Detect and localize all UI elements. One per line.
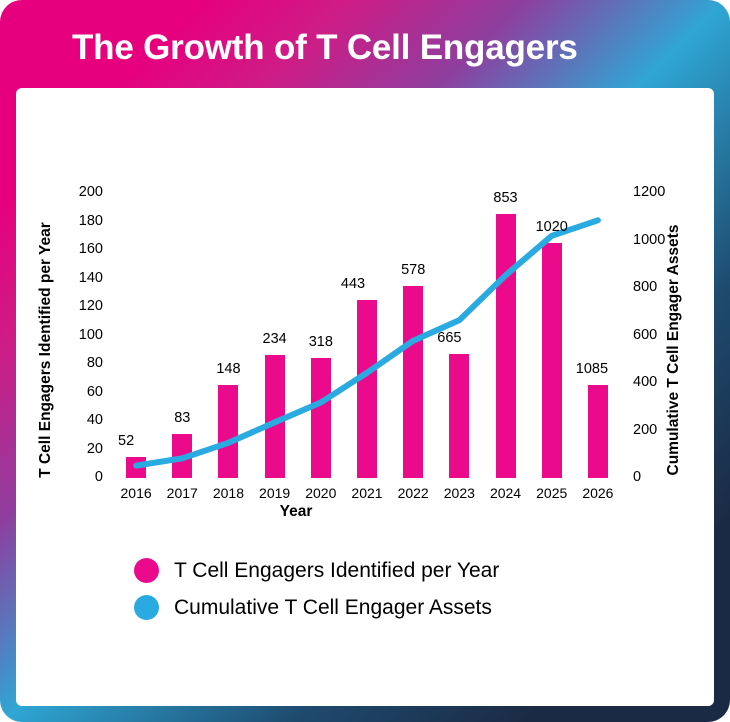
y-tick-right: 800: [633, 279, 679, 295]
y-tick-left: 20: [61, 441, 103, 457]
bar: [311, 358, 331, 478]
bar: [172, 434, 192, 478]
y-tick-left: 200: [61, 184, 103, 200]
x-tick: 2025: [529, 485, 575, 501]
chart-legend: T Cell Engagers Identified per Year Cumu…: [16, 558, 714, 632]
x-axis-title: Year: [16, 503, 576, 521]
bar: [449, 354, 469, 478]
bar: [496, 214, 516, 478]
x-tick: 2022: [390, 485, 436, 501]
y-tick-left: 100: [61, 327, 103, 343]
chart-panel: T Cell Engagers Identified per Year Cumu…: [16, 88, 714, 706]
y-tick-left: 60: [61, 384, 103, 400]
y-tick-left: 0: [61, 469, 103, 485]
bar: [218, 385, 238, 478]
bar: [403, 286, 423, 478]
y-tick-right: 0: [633, 469, 679, 485]
legend-label-line: Cumulative T Cell Engager Assets: [174, 596, 492, 620]
x-tick: 2017: [159, 485, 205, 501]
x-tick: 2024: [482, 485, 528, 501]
circle-marker-icon: [134, 595, 159, 620]
bar: [588, 385, 608, 478]
x-tick: 2016: [113, 485, 159, 501]
bar-value-label: 52: [118, 433, 134, 449]
poster-frame: The Growth of T Cell Engagers T Cell Eng…: [0, 0, 730, 722]
bar-value-label: 1020: [536, 219, 568, 235]
bar-value-label: 665: [437, 330, 461, 346]
y-tick-left: 40: [61, 412, 103, 428]
x-tick: 2021: [344, 485, 390, 501]
bar-value-label: 578: [401, 262, 425, 278]
bar-value-label: 1085: [576, 361, 608, 377]
y-tick-left: 80: [61, 355, 103, 371]
x-tick: 2019: [252, 485, 298, 501]
y-axis-left-title: T Cell Engagers Identified per Year: [37, 170, 55, 530]
legend-label-bars: T Cell Engagers Identified per Year: [174, 559, 499, 583]
bar-value-label: 443: [341, 276, 365, 292]
page-title: The Growth of T Cell Engagers: [72, 28, 578, 68]
y-tick-right: 200: [633, 422, 679, 438]
y-tick-left: 120: [61, 298, 103, 314]
bar-value-label: 234: [263, 331, 287, 347]
y-tick-left: 180: [61, 213, 103, 229]
x-tick: 2018: [205, 485, 251, 501]
x-tick: 2020: [298, 485, 344, 501]
x-tick: 2026: [575, 485, 621, 501]
bar: [126, 457, 146, 478]
y-tick-left: 140: [61, 270, 103, 286]
x-tick: 2023: [436, 485, 482, 501]
bar-value-label: 853: [493, 190, 517, 206]
y-tick-left: 160: [61, 241, 103, 257]
header-bar: The Growth of T Cell Engagers: [16, 14, 714, 82]
bar: [265, 355, 285, 478]
bar-value-label: 83: [174, 410, 190, 426]
circle-marker-icon: [134, 558, 159, 583]
bar: [542, 243, 562, 478]
y-tick-right: 1000: [633, 232, 679, 248]
bar-value-label: 318: [309, 334, 333, 350]
bar-value-label: 148: [216, 361, 240, 377]
y-tick-right: 1200: [633, 184, 679, 200]
plot-area: 528314823431844357866585310201085: [113, 193, 621, 478]
y-tick-right: 400: [633, 374, 679, 390]
legend-item-line: Cumulative T Cell Engager Assets: [16, 595, 714, 620]
bar: [357, 300, 377, 478]
y-tick-right: 600: [633, 327, 679, 343]
legend-item-bars: T Cell Engagers Identified per Year: [16, 558, 714, 583]
